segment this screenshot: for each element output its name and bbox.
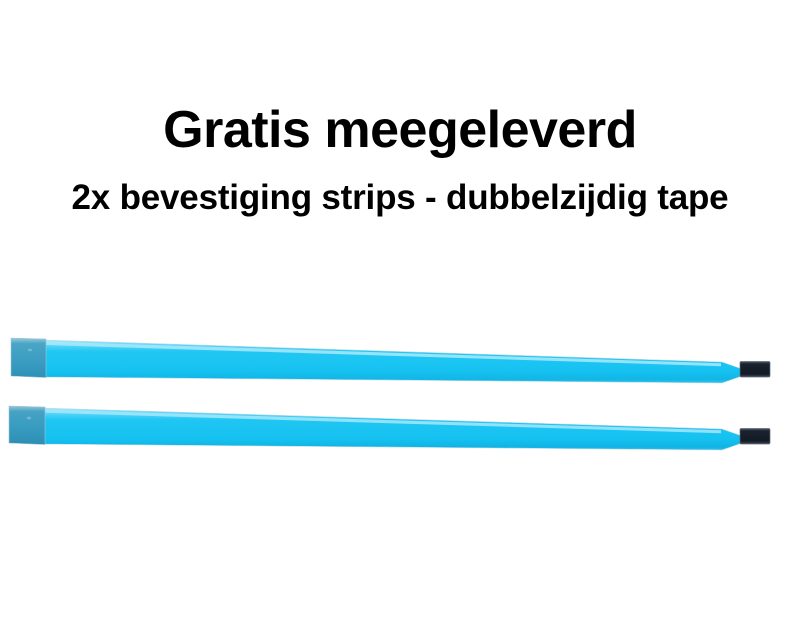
- page-title: Gratis meegeleverd: [0, 100, 800, 160]
- strip-lower-highlight: [45, 410, 721, 434]
- page-subtitle: 2x bevestiging strips - dubbelzijdig tap…: [0, 176, 800, 220]
- tape-strips-svg: [0, 0, 800, 619]
- strip-lower-right-tab: [740, 429, 770, 445]
- strip-lower-body: [43, 408, 742, 450]
- strip-lower-left-tab: [9, 406, 45, 445]
- strip-upper-right-tab: [740, 362, 770, 378]
- strip-lower-left-tab-speck: [27, 417, 31, 420]
- strip-upper-body: [44, 340, 742, 383]
- headline-block: Gratis meegeleverd 2x bevestiging strips…: [0, 100, 800, 220]
- strip-upper: [11, 338, 770, 383]
- strip-upper-left-tab-speck: [28, 349, 32, 352]
- strip-upper-left-tab: [11, 338, 46, 378]
- strip-lower: [9, 406, 770, 450]
- product-promo-image: Gratis meegeleverd 2x bevestiging strips…: [0, 0, 800, 619]
- strip-upper-highlight: [46, 342, 721, 367]
- tape-strips-illustration: [0, 0, 800, 619]
